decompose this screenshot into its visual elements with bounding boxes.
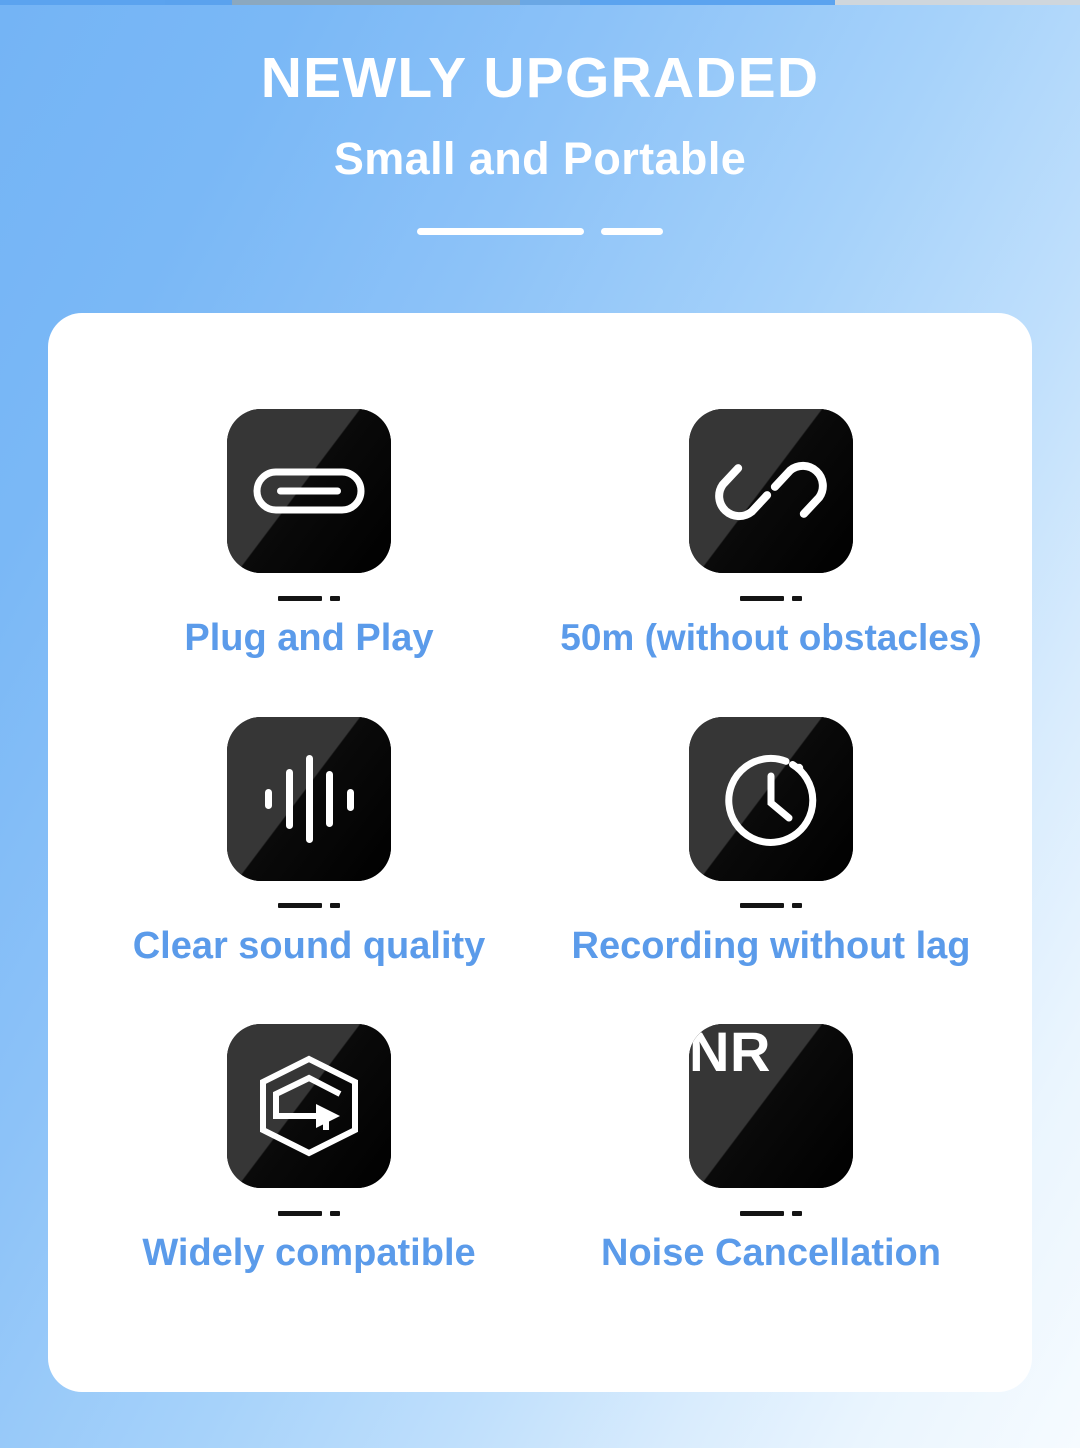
feature-dash-separator (278, 595, 340, 601)
hexagon-swap-icon (227, 1024, 391, 1188)
feature-label: Widely compatible (142, 1233, 475, 1275)
noise-reduction-icon: NR (689, 1024, 771, 1083)
feature-item: NR Noise Cancellation (540, 1024, 1002, 1332)
feature-item: 50m (without obstacles) (540, 409, 1002, 717)
feature-item: Plug and Play (78, 409, 540, 717)
feature-dash-separator (278, 1210, 340, 1216)
feature-label: Noise Cancellation (601, 1233, 941, 1275)
feature-label: Clear sound quality (133, 926, 486, 968)
header: NEWLY UPGRADED Small and Portable (0, 0, 1080, 186)
feature-dash-separator (740, 1210, 802, 1216)
feature-label: Plug and Play (184, 618, 433, 660)
feature-item: Recording without lag (540, 717, 1002, 1025)
chain-link-icon (689, 409, 853, 573)
clock-icon (689, 717, 853, 881)
feature-icon-tile (689, 409, 853, 573)
page-title: NEWLY UPGRADED (0, 46, 1080, 112)
feature-dash-separator (278, 903, 340, 909)
feature-card: Plug and Play (48, 313, 1032, 1392)
top-seam-artifact (0, 0, 1080, 5)
feature-icon-tile (227, 409, 391, 573)
divider-bar-short (601, 228, 663, 235)
feature-item: Clear sound quality (78, 717, 540, 1025)
sound-wave-icon (227, 717, 391, 881)
feature-icon-tile (227, 717, 391, 881)
feature-grid: Plug and Play (48, 313, 1032, 1392)
feature-icon-tile (227, 1024, 391, 1188)
header-divider (0, 228, 1080, 235)
feature-icon-tile (689, 717, 853, 881)
feature-icon-tile: NR (689, 1024, 853, 1188)
divider-bar-long (417, 228, 584, 235)
usb-c-port-icon (227, 409, 391, 573)
feature-label: Recording without lag (572, 926, 971, 968)
page-subtitle: Small and Portable (0, 132, 1080, 186)
feature-label: 50m (without obstacles) (560, 618, 981, 659)
infographic-page: NEWLY UPGRADED Small and Portable (0, 0, 1080, 1448)
feature-item: Widely compatible (78, 1024, 540, 1332)
feature-dash-separator (740, 903, 802, 909)
feature-dash-separator (740, 595, 802, 601)
